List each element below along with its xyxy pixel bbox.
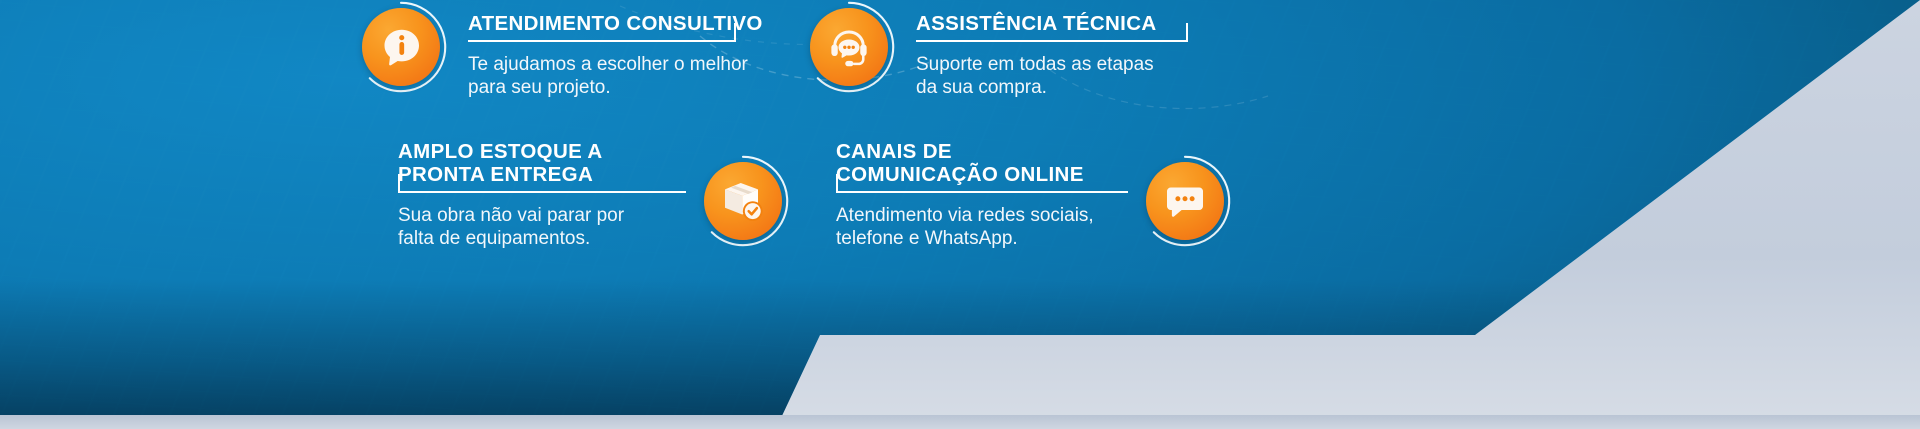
chat-glyph	[1161, 177, 1209, 225]
feature-description-line1: Sua obra não vai parar por	[398, 205, 624, 228]
title-underline-bracket	[836, 186, 1128, 198]
feature-title: ASSISTÊNCIA TÉCNICA	[916, 12, 1188, 35]
promo-benefits-banner: ATENDIMENTO CONSULTIVO Te ajudamos a esc…	[0, 0, 1920, 429]
feature-description-line2: telefone e WhatsApp.	[836, 228, 1018, 251]
feature-text-block: AMPLO ESTOQUE A PRONTA ENTREGA Sua obra …	[398, 140, 686, 250]
feature-title-line2: PRONTA ENTREGA	[398, 163, 593, 186]
icon-disc	[1146, 162, 1224, 240]
feature-title-line1: AMPLO ESTOQUE A	[398, 140, 603, 163]
feature-description-line2: falta de equipamentos.	[398, 228, 590, 251]
underline	[468, 40, 736, 42]
feature-description-line2: da sua compra.	[916, 77, 1188, 100]
bracket-tick	[398, 174, 400, 191]
bracket-tick	[734, 23, 736, 40]
feature-item-assistencia-tecnica: ASSISTÊNCIA TÉCNICA Suporte em todas as …	[810, 8, 1188, 99]
feature-item-canais-comunicacao: CANAIS DE COMUNICAÇÃO ONLINE Atendimento…	[836, 140, 1224, 250]
feature-title-line1: CANAIS DE	[836, 140, 952, 163]
feature-item-atendimento-consultivo: ATENDIMENTO CONSULTIVO Te ajudamos a esc…	[362, 8, 763, 99]
feature-item-amplo-estoque: AMPLO ESTOQUE A PRONTA ENTREGA Sua obra …	[398, 140, 782, 250]
headset-support-icon	[810, 8, 888, 86]
chat-bubble-dots-icon	[1146, 162, 1224, 240]
icon-disc	[362, 8, 440, 86]
icon-disc	[704, 162, 782, 240]
title-underline-bracket	[468, 35, 736, 47]
box-check-icon	[704, 162, 782, 240]
bracket-tick	[836, 174, 838, 191]
info-glyph	[377, 23, 425, 71]
feature-description-line1: Te ajudamos a escolher o melhor	[468, 54, 763, 77]
feature-text-block: CANAIS DE COMUNICAÇÃO ONLINE Atendimento…	[836, 140, 1128, 250]
bracket-tick	[1186, 23, 1188, 40]
info-speech-bubble-icon	[362, 8, 440, 86]
feature-text-block: ATENDIMENTO CONSULTIVO Te ajudamos a esc…	[468, 8, 763, 99]
package-box-glyph	[719, 177, 767, 225]
feature-title: ATENDIMENTO CONSULTIVO	[468, 12, 763, 35]
feature-text-block: ASSISTÊNCIA TÉCNICA Suporte em todas as …	[916, 8, 1188, 99]
feature-description-line1: Atendimento via redes sociais,	[836, 205, 1094, 228]
feature-description-line1: Suporte em todas as etapas	[916, 54, 1188, 77]
title-underline-bracket	[398, 186, 686, 198]
icon-disc	[810, 8, 888, 86]
underline	[916, 40, 1188, 42]
underline	[836, 191, 1128, 193]
headset-glyph	[825, 23, 873, 71]
feature-description-line2: para seu projeto.	[468, 77, 763, 100]
bottom-light-strip	[0, 415, 1920, 429]
underline	[398, 191, 686, 193]
feature-title-line2: COMUNICAÇÃO ONLINE	[836, 163, 1084, 186]
title-underline-bracket	[916, 35, 1188, 47]
